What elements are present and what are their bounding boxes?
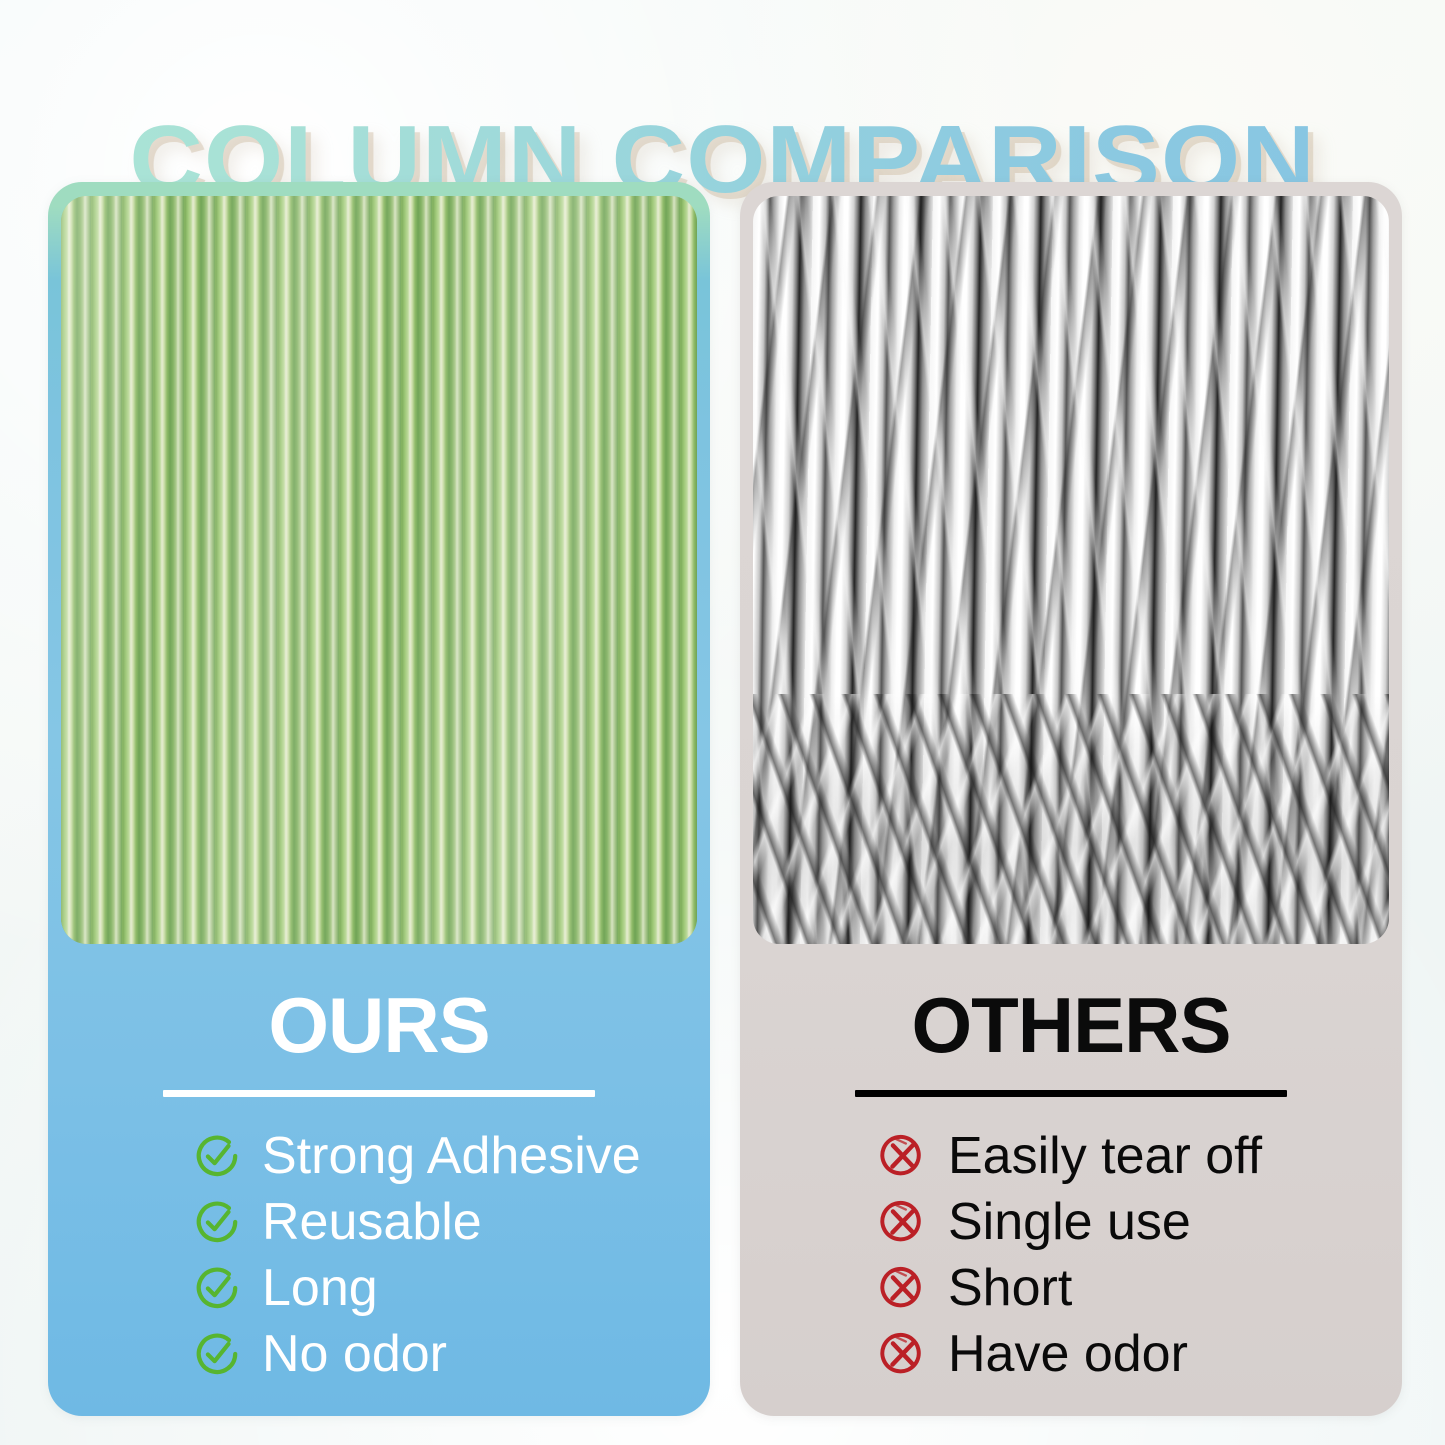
panel-divider-ours: [163, 1090, 595, 1097]
list-item: Strong Adhesive: [48, 1123, 710, 1189]
list-item: Short: [740, 1255, 1402, 1321]
cross-circle-icon: [880, 1199, 926, 1245]
list-item: Have odor: [740, 1321, 1402, 1387]
feature-label: Have odor: [948, 1328, 1188, 1380]
list-item: Long: [48, 1255, 710, 1321]
panel-ours: OURS Strong Adhesive Reusable: [48, 944, 710, 1416]
panel-divider-others: [855, 1090, 1287, 1097]
comparison-card-ours: OURS Strong Adhesive Reusable: [48, 182, 710, 1416]
comparison-card-others: OTHERS Easily tear off Si: [740, 182, 1402, 1416]
feature-list-others: Easily tear off Single use Sho: [740, 1123, 1402, 1387]
feature-list-ours: Strong Adhesive Reusable Long: [48, 1123, 710, 1387]
feature-label: Short: [948, 1262, 1072, 1314]
feature-label: Long: [262, 1262, 378, 1314]
panel-heading-ours: OURS: [48, 986, 710, 1064]
feature-label: Easily tear off: [948, 1130, 1262, 1182]
list-item: Easily tear off: [740, 1123, 1402, 1189]
green-foil-sheen-overlay: [61, 196, 697, 944]
cross-circle-icon: [880, 1265, 926, 1311]
feature-label: Strong Adhesive: [262, 1130, 641, 1182]
list-item: Single use: [740, 1189, 1402, 1255]
product-image-ours: [61, 196, 697, 944]
panel-heading-others: OTHERS: [740, 986, 1402, 1064]
panel-others: OTHERS Easily tear off Si: [740, 944, 1402, 1416]
feature-label: Reusable: [262, 1196, 482, 1248]
check-circle-icon: [194, 1265, 240, 1311]
cross-circle-icon: [880, 1133, 926, 1179]
check-circle-icon: [194, 1331, 240, 1377]
list-item: Reusable: [48, 1189, 710, 1255]
cross-circle-icon: [880, 1331, 926, 1377]
check-circle-icon: [194, 1199, 240, 1245]
feature-label: No odor: [262, 1328, 447, 1380]
list-item: No odor: [48, 1321, 710, 1387]
silver-foil-tangled-ends: [753, 694, 1389, 944]
feature-label: Single use: [948, 1196, 1191, 1248]
product-image-others: [753, 196, 1389, 944]
check-circle-icon: [194, 1133, 240, 1179]
